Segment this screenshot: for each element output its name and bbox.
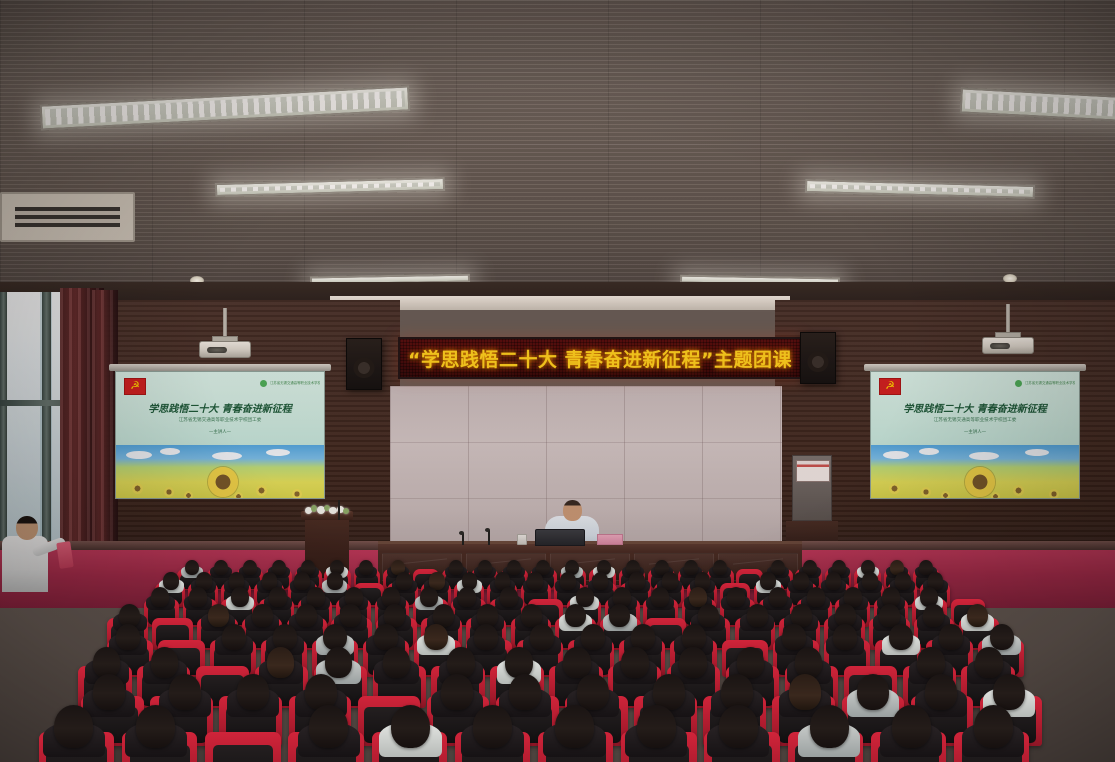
audience-member-head (93, 674, 125, 710)
audience-member-head (810, 705, 849, 748)
party-emblem-icon: ☭ (879, 378, 901, 395)
audience-member-head (879, 604, 900, 627)
audience-member-head (653, 674, 685, 710)
slide-title: 学思践悟二十大 青春奋进新征程 (871, 400, 1079, 415)
audience-member-head (637, 705, 676, 748)
audience-member-head (272, 560, 286, 575)
audience-member-head (689, 587, 707, 607)
audience-member-head (116, 624, 140, 650)
audience-member-head (273, 624, 297, 650)
slide-subtitle: 江苏省无锡交通高等职业技术学校团工委 (116, 417, 324, 423)
audience-member-head (651, 587, 669, 607)
auditorium-photo: “学思践悟二十大 青春奋进新征程”主题团课 ☭ 江 (0, 0, 1115, 762)
water-cup (517, 534, 527, 545)
audience-member-head (581, 624, 605, 650)
audience-member-head (892, 705, 931, 748)
audience-member-head (340, 604, 361, 627)
sunflower-icon (208, 467, 238, 497)
audience-member-head (527, 572, 543, 589)
audience-member-head (500, 587, 518, 607)
audience-member-head (391, 705, 430, 748)
audience-member-head (294, 572, 310, 589)
audience-member-head (441, 674, 473, 710)
audience-member-head (269, 587, 287, 607)
audience-member-head (163, 572, 179, 589)
audience-member-head (509, 674, 541, 710)
audience-member-head (727, 587, 745, 607)
audience-member-head (383, 647, 411, 677)
audience-member-head (565, 604, 586, 627)
audience-member-head (923, 604, 944, 627)
audience-member-head (267, 647, 295, 677)
audience-member-head (54, 705, 93, 748)
screen-roller-bar (864, 364, 1086, 371)
audience-member-head (782, 624, 806, 650)
audience-member-head (807, 587, 825, 607)
audience-member-head (374, 624, 398, 650)
pink-folder (597, 534, 623, 545)
audience-member-head (793, 572, 809, 589)
audience-member-head (698, 604, 719, 627)
audience-member-head (296, 604, 317, 627)
audience-member-head (530, 624, 554, 650)
audience-member-head (93, 647, 121, 677)
audience-member-head (396, 572, 412, 589)
wall-poster (796, 460, 830, 482)
audience-member-head (222, 624, 246, 650)
audience-member-head (771, 560, 785, 575)
audience-member-head (208, 604, 229, 627)
audience-member-head (151, 587, 169, 607)
school-logo-icon (260, 380, 267, 387)
audience-member-head (577, 674, 609, 710)
audience-member-head (719, 705, 758, 748)
audience-member-head (629, 572, 645, 589)
sunflower-icon (965, 467, 995, 497)
audience-member-head (474, 624, 498, 650)
audience-member-head (679, 647, 707, 677)
wall-speaker-right (800, 332, 836, 384)
slide-footer: 一主讲人一 (116, 429, 324, 435)
microphone-head-icon (485, 528, 490, 532)
audience-member-head (826, 572, 842, 589)
audience-member-head (684, 560, 698, 575)
left-screen-unit: ☭ 江苏省无锡交通高等职业技术学校 学思践悟二十大 青春奋进新征程 江苏省无锡交… (115, 371, 325, 499)
audience-member-head (747, 604, 768, 627)
audience-member-head (721, 674, 753, 710)
audience-member-head (449, 560, 463, 575)
wall-alcove (792, 455, 832, 521)
audience-member-head (974, 705, 1013, 748)
slide-sunflower-image (116, 445, 324, 498)
audience-member-head (252, 604, 273, 627)
audience-member-head (713, 560, 727, 575)
microphone-head-icon (459, 531, 464, 535)
school-logo-text: 江苏省无锡交通高等职业技术学校 (1025, 380, 1075, 385)
audience-member-head (359, 560, 373, 575)
right-screen-unit: ☭ 江苏省无锡交通高等职业技术学校 学思践悟二十大 青春奋进新征程 江苏省无锡交… (870, 371, 1080, 499)
projector-pole (1006, 304, 1010, 334)
audience-member-head (621, 647, 649, 677)
speaker-head (563, 500, 582, 521)
school-logo-text: 江苏省无锡交通高等职业技术学校 (270, 380, 320, 385)
audience-member-head (789, 674, 821, 710)
audience-member-head (214, 560, 228, 575)
audience-member-head (662, 572, 678, 589)
seat-back-panel (213, 745, 273, 762)
audience-member-head (795, 647, 823, 677)
audience-member-head (473, 705, 512, 748)
audience-member-head (169, 674, 201, 710)
audience-member-head (857, 674, 889, 710)
party-emblem-icon: ☭ (124, 378, 146, 395)
slide-footer: 一主讲人一 (871, 429, 1079, 435)
table-microphone (488, 530, 490, 545)
ceiling (0, 0, 1115, 300)
audience-member-head (305, 674, 337, 710)
left-projection-screen: ☭ 江苏省无锡交通高等职业技术学校 学思践悟二十大 青春奋进新征程 江苏省无锡交… (115, 371, 325, 499)
audience-member-head (507, 560, 521, 575)
audience-member-head (136, 705, 175, 748)
audience-member-head (325, 647, 353, 677)
audience-member-head (151, 647, 179, 677)
audience-member-head (939, 624, 963, 650)
audience-member-head (323, 624, 347, 650)
audience-member-head (682, 624, 706, 650)
audience-member-head (769, 587, 787, 607)
audience-member-head (231, 587, 249, 607)
audience-member-head (862, 572, 878, 589)
slide-subtitle: 江苏省无锡交通高等职业技术学校团工委 (871, 417, 1079, 423)
audience-member-head (631, 624, 655, 650)
audience-member-head (563, 647, 591, 677)
led-banner-text: “学思践悟二十大 青春奋进新征程”主题团课 (408, 345, 792, 372)
audience-member-head (889, 624, 913, 650)
screen-roller-bar (109, 364, 331, 371)
audience-member-head (458, 587, 476, 607)
audience-member-head (327, 572, 343, 589)
audience-member-head (185, 560, 199, 575)
standing-person-head (16, 516, 38, 540)
audience-member-head (478, 560, 492, 575)
laptop (535, 529, 585, 546)
ceiling-projector-right (982, 337, 1034, 354)
lectern-microphone (338, 500, 340, 520)
audience-member-head (555, 705, 594, 748)
audience-member-head (420, 587, 438, 607)
led-banner: “学思践悟二十大 青春奋进新征程”主题团课 (398, 337, 802, 379)
audience-member-head (967, 604, 988, 627)
audience-seating (0, 556, 1115, 762)
audience-member-head (990, 624, 1014, 650)
audience-member-head (447, 647, 475, 677)
slide-title: 学思践悟二十大 青春奋进新征程 (116, 400, 324, 415)
audience-member-head (737, 647, 765, 677)
audience-member-head (917, 647, 945, 677)
audience-member-head (189, 587, 207, 607)
audience-member-head (609, 604, 630, 627)
audience-member-head (309, 705, 348, 748)
wall-speaker-left (346, 338, 382, 390)
school-logo-icon (1015, 380, 1022, 387)
right-projection-screen: ☭ 江苏省无锡交通高等职业技术学校 学思践悟二十大 青春奋进新征程 江苏省无锡交… (870, 371, 1080, 499)
audience-member-head (424, 624, 448, 650)
audience-member-head (237, 674, 269, 710)
audience-member-head (833, 624, 857, 650)
slide-sunflower-image (871, 445, 1079, 498)
ceiling-panel-grid (0, 0, 1115, 300)
audience-member-head (505, 647, 533, 677)
ceiling-projector-left (199, 341, 251, 358)
lectern-flowers (303, 503, 351, 515)
projector-pole (223, 308, 227, 338)
audience-member-head (560, 572, 576, 589)
audience-member-head (993, 674, 1025, 710)
auditorium-seat (205, 732, 280, 762)
audience-member-head (895, 572, 911, 589)
audience-member-head (243, 560, 257, 575)
audience-member-head (925, 674, 957, 710)
ac-vent (0, 192, 135, 242)
audience-member-head (975, 647, 1003, 677)
audience-member-head (593, 572, 609, 589)
